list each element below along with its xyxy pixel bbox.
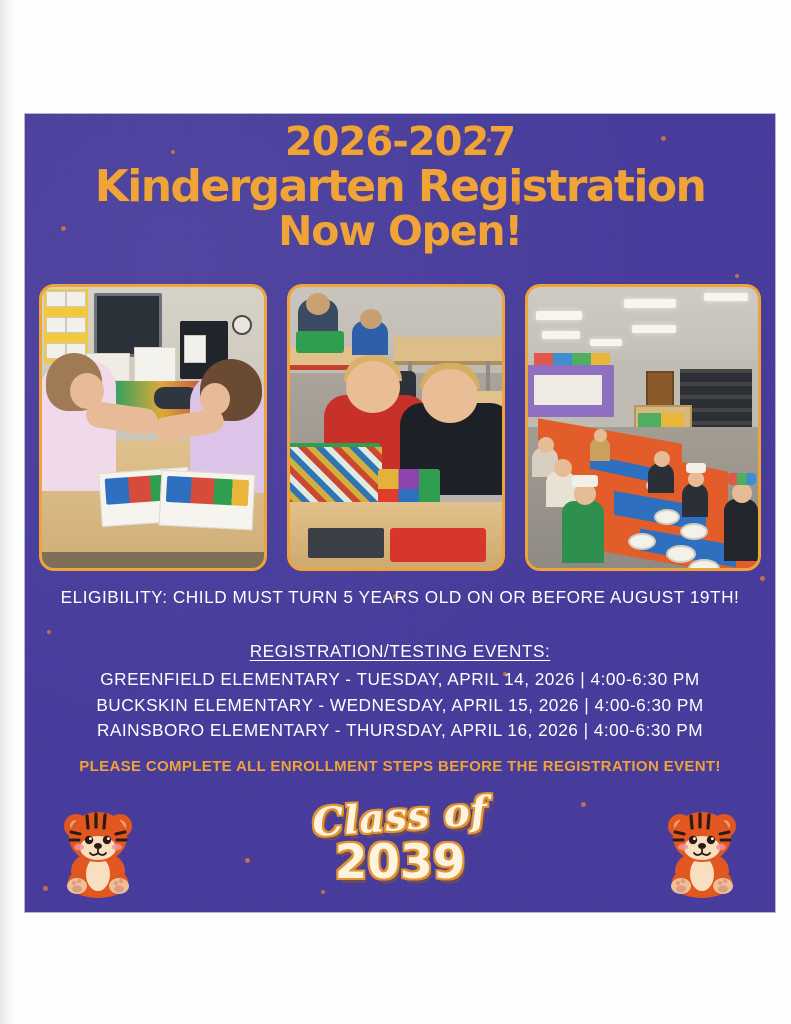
flyer-headline: 2026-2027 Kindergarten Registration Now … [25, 122, 775, 252]
event-row: GREENFIELD ELEMENTARY - TUESDAY, APRIL 1… [25, 667, 775, 693]
photo-girls-reading: two kindergarten girls reading picture b… [39, 284, 267, 571]
headline-main: Kindergarten Registration [25, 165, 775, 210]
photo-row: two kindergarten girls reading picture b… [39, 284, 761, 569]
events-list: GREENFIELD ELEMENTARY - TUESDAY, APRIL 1… [25, 667, 775, 744]
confetti-dot [43, 886, 48, 891]
tiger-mascot-left-icon [55, 804, 141, 898]
photo-class-lunch: kindergarten class seated at long orange… [525, 284, 761, 571]
confetti-dot [321, 890, 325, 894]
scanned-page: 2026-2027 Kindergarten Registration Now … [0, 0, 791, 1024]
eligibility-line: ELIGIBILITY: CHILD MUST TURN 5 YEARS OLD… [25, 587, 775, 608]
headline-school-year: 2026-2027 [25, 122, 775, 163]
events-heading: REGISTRATION/TESTING EVENTS: [25, 641, 775, 662]
tiger-mascot-right-icon [659, 804, 745, 898]
events-heading-text: REGISTRATION/TESTING EVENTS: [250, 641, 551, 661]
enrollment-notice: PLEASE COMPLETE ALL ENROLLMENT STEPS BEF… [25, 758, 775, 775]
confetti-dot [735, 274, 739, 278]
confetti-dot [47, 630, 51, 634]
flyer-panel: 2026-2027 Kindergarten Registration Now … [25, 114, 775, 912]
confetti-dot [760, 576, 765, 581]
event-row: BUCKSKIN ELEMENTARY - WEDNESDAY, APRIL 1… [25, 693, 775, 719]
event-row: RAINSBORO ELEMENTARY - THURSDAY, APRIL 1… [25, 718, 775, 744]
photo-boys-building: two kindergarten boys smiling while buil… [287, 284, 505, 571]
headline-status: Now Open! [25, 211, 775, 253]
